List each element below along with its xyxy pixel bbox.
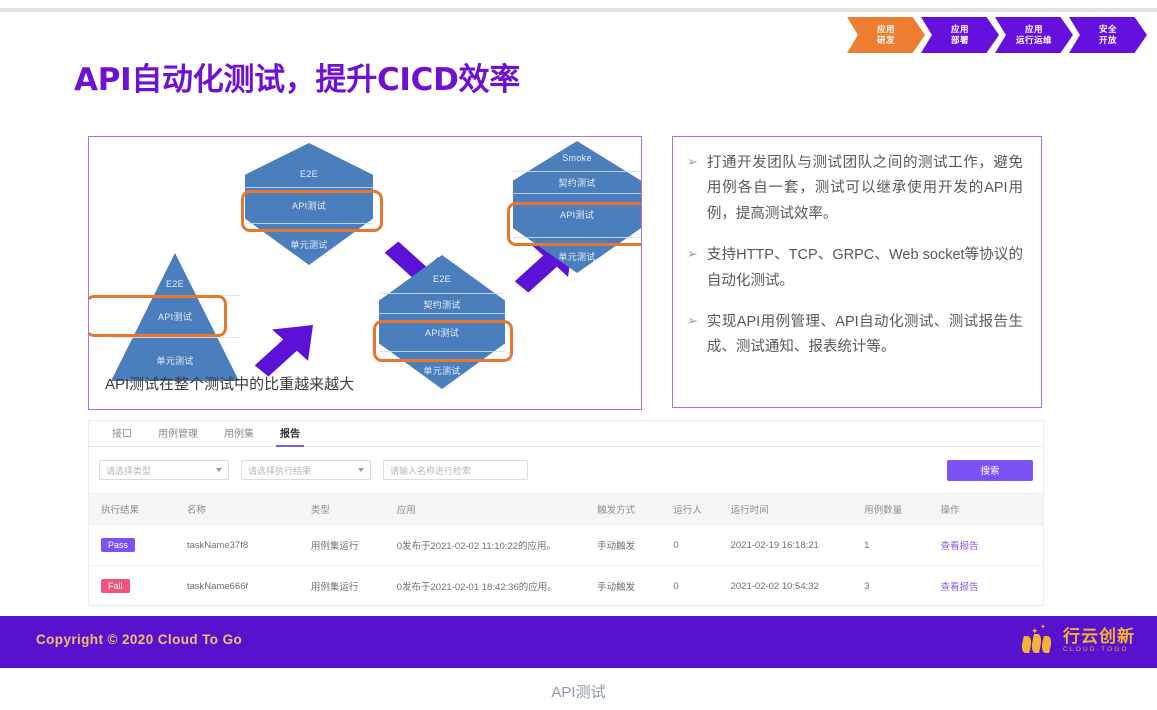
brand-swoosh-icon: ✦ ✦ xyxy=(1020,626,1056,656)
brand-name-en: CLOUD·TOGO xyxy=(1063,645,1135,654)
cell-trigger: 手动触发 xyxy=(585,525,661,566)
cell-name: taskName666f xyxy=(175,566,299,607)
result-select-value: 请选择执行结果 xyxy=(248,464,311,477)
table-row[interactable]: Pass taskName37f8 用例集运行 0发布于2021-02-02 1… xyxy=(89,525,1043,566)
bullet-text: 打通开发团队与测试团队之间的测试工作，避免用例各自一套，测试可以继承使用开发的A… xyxy=(707,151,1023,227)
type-select[interactable]: 请选择类型 xyxy=(99,460,229,480)
tab-report[interactable]: 报告 xyxy=(267,425,313,446)
top-divider xyxy=(0,8,1157,12)
app-tab-bar: 接口 用例管理 用例集 报告 xyxy=(89,421,1043,447)
search-button[interactable]: 搜索 xyxy=(947,460,1033,481)
table-row[interactable]: Fail taskName666f 用例集运行 0发布于2021-02-01 1… xyxy=(89,566,1043,607)
pyramid-2-layer-e2e: E2E xyxy=(245,163,373,185)
pyramid-3-layer-contract: 契约测试 xyxy=(379,295,505,313)
pyramid-2-layer-unit: 单元测试 xyxy=(245,233,373,255)
cell-time: 2021-02-02 10:54:32 xyxy=(719,566,853,607)
status-badge: Pass xyxy=(101,538,135,552)
phase-nav-item-app-ops[interactable]: 应用 运行运维 xyxy=(995,17,1073,53)
cell-type: 用例集运行 xyxy=(299,566,385,607)
table-header-row: 执行结果 名称 类型 应用 触发方式 运行人 运行时间 用例数量 操作 xyxy=(89,494,1043,525)
test-pyramid-diagram: E2E API测试 单元测试 E2E API测试 单元测试 E2E 契约测试 xyxy=(88,136,642,410)
bullet-marker-icon: ➢ xyxy=(687,151,698,227)
cell-count: 3 xyxy=(852,566,928,607)
chevron-down-icon xyxy=(216,468,222,472)
phase-label-line1: 安全 xyxy=(1099,24,1117,35)
search-input[interactable]: 请输入名称进行检索 xyxy=(383,460,528,480)
pyramid-1-api-highlight xyxy=(88,295,227,337)
slide-footer: Copyright © 2020 Cloud To Go ✦ ✦ 行云创新 CL… xyxy=(0,616,1157,668)
cell-count: 1 xyxy=(852,525,928,566)
tab-case-management[interactable]: 用例管理 xyxy=(145,425,211,446)
diagram-caption: API测试在整个测试中的比重越来越大 xyxy=(105,373,354,394)
cell-action: 查看报告 xyxy=(928,566,1043,607)
view-report-link[interactable]: 查看报告 xyxy=(940,582,978,593)
phase-nav: 应用 研发 应用 部署 应用 运行运维 安全 开放 xyxy=(851,17,1147,53)
tab-case-set[interactable]: 用例集 xyxy=(211,425,267,446)
cell-time: 2021-02-19 16:18:21 xyxy=(719,525,853,566)
pyramid-2-api-highlight xyxy=(241,190,383,232)
phase-label-line2: 部署 xyxy=(951,35,969,46)
brand-name-cn: 行云创新 xyxy=(1063,628,1135,646)
col-runner: 运行人 xyxy=(661,494,718,525)
pyramid-4-api-highlight xyxy=(507,202,642,246)
col-trigger: 触发方式 xyxy=(585,494,661,525)
phase-label-line2: 开放 xyxy=(1099,35,1117,46)
cell-runner: 0 xyxy=(661,525,718,566)
search-input-placeholder: 请输入名称进行检索 xyxy=(390,464,471,477)
app-screenshot-panel: 接口 用例管理 用例集 报告 请选择类型 请选择执行结果 请输入名称进行检索 搜… xyxy=(88,420,1044,606)
phase-nav-item-security[interactable]: 安全 开放 xyxy=(1069,17,1147,53)
bullet-marker-icon: ➢ xyxy=(687,243,698,294)
bullet-item: ➢ 打通开发团队与测试团队之间的测试工作，避免用例各自一套，测试可以继承使用开发… xyxy=(687,151,1023,227)
pyramid-3-api-highlight xyxy=(373,320,513,362)
phase-label-line2: 运行运维 xyxy=(1016,35,1052,46)
cell-app: 0发布于2021-02-02 11:10:22的应用。 xyxy=(385,525,585,566)
slide-root: 应用 研发 应用 部署 应用 运行运维 安全 开放 API自动化测试，提升CIC… xyxy=(0,0,1157,710)
bullet-marker-icon: ➢ xyxy=(687,310,698,361)
bullet-text: 实现API用例管理、API自动化测试、测试报告生成、测试通知、报表统计等。 xyxy=(707,310,1023,361)
phase-label-line1: 应用 xyxy=(1016,24,1052,35)
cell-name: taskName37f8 xyxy=(175,525,299,566)
cell-result: Fail xyxy=(89,566,175,607)
status-badge: Fail xyxy=(101,579,130,593)
col-action: 操作 xyxy=(928,494,1043,525)
reports-table: 执行结果 名称 类型 应用 触发方式 运行人 运行时间 用例数量 操作 Pass… xyxy=(89,493,1043,606)
pyramid-3-layer-e2e: E2E xyxy=(379,269,505,289)
cell-result: Pass xyxy=(89,525,175,566)
feature-bullets-panel: ➢ 打通开发团队与测试团队之间的测试工作，避免用例各自一套，测试可以继承使用开发… xyxy=(672,136,1042,408)
cell-type: 用例集运行 xyxy=(299,525,385,566)
phase-label-line1: 应用 xyxy=(951,24,969,35)
chevron-down-icon xyxy=(358,468,364,472)
col-name: 名称 xyxy=(175,494,299,525)
copyright-text: Copyright © 2020 Cloud To Go xyxy=(36,632,242,647)
tab-interface[interactable]: 接口 xyxy=(99,425,145,446)
pyramid-4-layer-contract: 契约测试 xyxy=(513,173,641,191)
phase-nav-item-app-dev[interactable]: 应用 研发 xyxy=(847,17,925,53)
col-type: 类型 xyxy=(299,494,385,525)
page-title: API自动化测试，提升CICD效率 xyxy=(74,54,520,99)
cell-app: 0发布于2021-02-01 18:42:36的应用。 xyxy=(385,566,585,607)
brand-logo: ✦ ✦ 行云创新 CLOUD·TOGO xyxy=(1020,626,1135,656)
cell-trigger: 手动触发 xyxy=(585,566,661,607)
cell-action: 查看报告 xyxy=(928,525,1043,566)
col-result: 执行结果 xyxy=(89,494,175,525)
result-select[interactable]: 请选择执行结果 xyxy=(241,460,371,480)
pyramid-1-layer-unit: 单元测试 xyxy=(111,349,239,371)
pyramid-3-layer-unit: 单元测试 xyxy=(379,359,505,381)
col-count: 用例数量 xyxy=(852,494,928,525)
bullet-text: 支持HTTP、TCP、GRPC、Web socket等协议的自动化测试。 xyxy=(707,243,1023,294)
col-app: 应用 xyxy=(385,494,585,525)
cell-runner: 0 xyxy=(661,566,718,607)
col-time: 运行时间 xyxy=(719,494,853,525)
phase-label-line2: 研发 xyxy=(877,35,895,46)
bullet-item: ➢ 实现API用例管理、API自动化测试、测试报告生成、测试通知、报表统计等。 xyxy=(687,310,1023,361)
page-caption: API测试 xyxy=(0,681,1157,702)
filter-bar: 请选择类型 请选择执行结果 请输入名称进行检索 搜索 xyxy=(89,447,1043,493)
pyramid-4-layer-smoke: Smoke xyxy=(513,149,641,167)
phase-label-line1: 应用 xyxy=(877,24,895,35)
type-select-value: 请选择类型 xyxy=(106,464,151,477)
phase-nav-item-app-deploy[interactable]: 应用 部署 xyxy=(921,17,999,53)
pyramid-1-layer-e2e: E2E xyxy=(111,273,239,295)
bullet-item: ➢ 支持HTTP、TCP、GRPC、Web socket等协议的自动化测试。 xyxy=(687,243,1023,294)
view-report-link[interactable]: 查看报告 xyxy=(940,541,978,552)
pyramid-4-layer-unit: 单元测试 xyxy=(513,245,641,267)
